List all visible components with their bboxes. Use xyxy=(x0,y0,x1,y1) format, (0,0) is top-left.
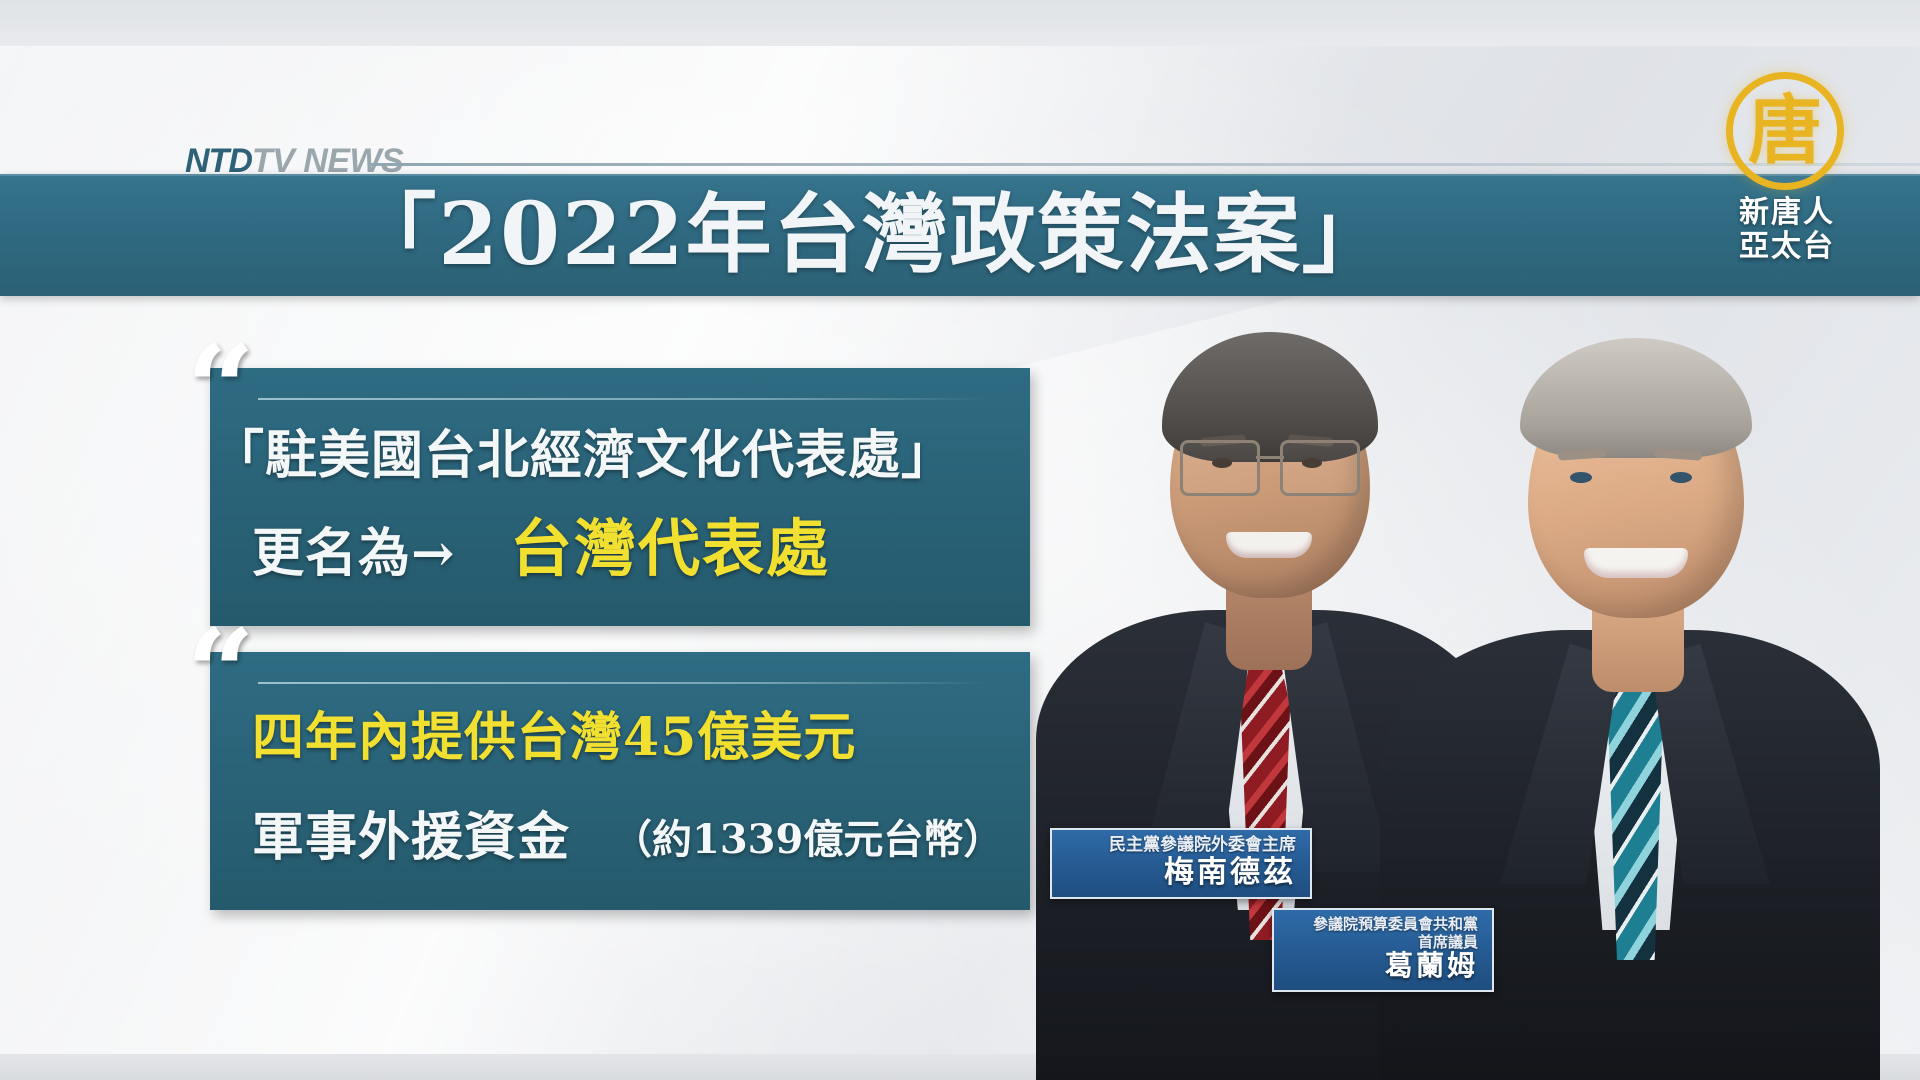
quote-2-line-2-note: （約1339億元台幣） xyxy=(612,820,1003,860)
nameplate-name: 梅南德茲 xyxy=(1066,856,1296,889)
card-hairline xyxy=(258,682,986,684)
quote-1-line-2-highlight: 台灣代表處 xyxy=(510,518,830,580)
eyeglasses xyxy=(1180,440,1360,494)
quote-1-line-2-prefix: 更名為→ xyxy=(252,528,456,580)
lens-right xyxy=(1280,440,1360,496)
ntd-channel-logo: 唐 新唐人 亞太台 xyxy=(1712,72,1862,272)
headline-band: 「2022年台灣政策法案」 xyxy=(0,174,1920,296)
quote-1-line-1: 「駐美國台北經濟文化代表處」 xyxy=(212,430,954,482)
quote-2-line-2-prefix: 軍事外援資金 xyxy=(252,812,570,864)
background-top-strip xyxy=(0,0,1920,46)
glasses-bridge xyxy=(1256,456,1284,459)
quote-mark-icon-2: “ xyxy=(186,614,255,734)
logo-subtitle-line2: 亞太台 xyxy=(1712,230,1862,264)
quote-2-line-1: 四年內提供台灣45億美元 xyxy=(252,712,856,764)
card-hairline xyxy=(258,398,986,400)
mouth xyxy=(1584,548,1688,578)
page-title: 「2022年台灣政策法案」 xyxy=(0,192,1920,278)
quote-card-1 xyxy=(210,368,1030,626)
logo-subtitle-line1: 新唐人 xyxy=(1712,196,1862,230)
broadcast-graphic: NTD TV NEWS 「2022年台灣政策法案」 唐 新唐人 亞太台 “ 「駐… xyxy=(0,0,1920,1080)
lens-left xyxy=(1180,440,1260,496)
nameplate-title-line1: 參議院預算委員會共和黨 xyxy=(1288,915,1478,933)
hair xyxy=(1520,338,1752,458)
nameplate-menendez: 民主黨參議院外委會主席 梅南德茲 xyxy=(1050,828,1312,899)
mouth xyxy=(1226,532,1312,558)
eye-right xyxy=(1670,472,1692,483)
logo-tang-glyph: 唐 xyxy=(1726,72,1844,190)
eye-left xyxy=(1570,472,1592,483)
nameplate-title: 民主黨參議院外委會主席 xyxy=(1066,835,1296,856)
nameplate-name: 葛蘭姆 xyxy=(1288,951,1478,982)
wordmark-rule xyxy=(370,163,1920,166)
nameplate-graham: 參議院預算委員會共和黨 首席議員 葛蘭姆 xyxy=(1272,908,1494,992)
logo-subtitle: 新唐人 亞太台 xyxy=(1712,196,1862,263)
quote-card-2 xyxy=(210,652,1030,910)
